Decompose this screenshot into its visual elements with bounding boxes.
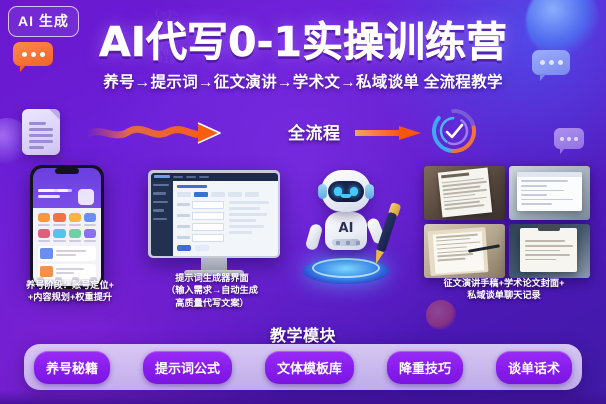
dashboard-content	[173, 181, 278, 256]
phone-icon-grid	[38, 213, 96, 242]
modules-panel: 养号秘籍 提示词公式 文体模板库 降重技巧 谈单话术	[24, 344, 582, 390]
window-titlebar	[517, 172, 582, 177]
module-pill-4[interactable]: 降重技巧	[387, 351, 463, 384]
caption-line: 提示词生成器界面	[142, 272, 282, 284]
form-field	[177, 212, 224, 220]
caption-photos: 征文演讲手稿+学术论文封面+ 私域谈单聊天记录	[404, 277, 604, 302]
page-title: AI代写0-1实操训练营	[0, 22, 606, 63]
pen-barrel	[376, 212, 397, 253]
paper-sheet	[432, 231, 484, 273]
module-pill-1[interactable]: 养号秘籍	[34, 351, 110, 384]
caption-monitor: 提示词生成器界面 （输入需求→自动生成 高质量代写文案）	[142, 272, 282, 309]
clipboard-clamp	[538, 224, 560, 231]
phone-hero-robot-icon	[78, 189, 94, 205]
robot-mouth	[340, 194, 352, 198]
flow-band: 全流程	[0, 101, 606, 163]
photo-grid	[424, 166, 590, 278]
caption-line: （输入需求→自动生成	[142, 284, 282, 296]
module-pill-2[interactable]: 提示词公式	[143, 351, 232, 384]
module-pill-5[interactable]: 谈单话术	[496, 351, 572, 384]
ai-robot-with-pen-icon: AI	[300, 168, 392, 284]
robot-arm-left	[305, 223, 324, 251]
clipboard	[520, 228, 577, 271]
form-field	[177, 234, 224, 242]
robot-ear-left	[318, 184, 327, 199]
handwritten-draft-photo	[424, 224, 505, 278]
document-in-hand-photo	[424, 166, 505, 220]
caption-line: 私域谈单聊天记录	[404, 289, 604, 301]
form-field	[177, 223, 224, 231]
progress-ring-check-icon	[428, 105, 480, 157]
monitor-screen	[151, 173, 278, 256]
arrow-right-icon	[355, 126, 421, 140]
monitor-bezel	[148, 170, 280, 258]
desktop-monitor-mockup	[148, 170, 280, 280]
clipboard	[427, 227, 488, 276]
smartphone-mockup	[30, 165, 104, 289]
monitor-neck	[201, 258, 227, 270]
pen-nib	[372, 250, 384, 266]
breadcrumb	[177, 185, 207, 188]
dashboard-topbar	[151, 173, 278, 181]
phone-app-header	[38, 179, 96, 187]
paper-sheet	[438, 168, 493, 218]
form-buttons	[177, 245, 224, 251]
robot-face-visor	[328, 181, 364, 202]
clipboard-laptop-photo	[509, 224, 590, 278]
robot-chest-label: AI	[325, 221, 367, 236]
module-pill-3[interactable]: 文体模板库	[265, 351, 354, 384]
wavy-arrow-icon	[86, 121, 236, 143]
page-subtitle: 养号→提示词→征文演讲→学术文→私域谈单 全流程教学	[0, 70, 606, 92]
list-item	[38, 246, 96, 261]
result-table	[229, 201, 274, 251]
robot-head	[321, 170, 371, 212]
robot-belt	[332, 239, 360, 246]
poster-root: {ai} 0-1 #>_ 01101 </> 0x1f { } 1010 //-…	[0, 0, 606, 404]
caption-line: 养号阶段：账号定位+	[2, 279, 138, 291]
dashboard-logo	[154, 175, 170, 178]
phone-hero-banner	[38, 189, 96, 206]
form-field	[177, 201, 224, 209]
app-window	[517, 172, 582, 211]
document-icon	[22, 109, 60, 155]
caption-phone: 养号阶段：账号定位+ +内容规划+权重提升	[2, 279, 138, 304]
phone-notch	[55, 168, 79, 174]
phone-screen	[33, 168, 101, 286]
caption-line: 征文演讲手稿+学术论文封面+	[404, 277, 604, 289]
footer-gradient	[0, 390, 606, 404]
robot-platform-ring	[312, 258, 380, 278]
modules-title: 教学模块	[0, 322, 606, 346]
dashboard-sidebar	[151, 181, 173, 256]
robot-ear-right	[365, 184, 374, 199]
dashboard-tabs	[177, 192, 274, 197]
flow-stage-label: 全流程	[288, 119, 341, 144]
software-window-photo	[509, 166, 590, 220]
robot-body: AI	[325, 212, 367, 250]
caption-line: 高质量代写文案）	[142, 297, 282, 309]
caption-line: +内容规划+权重提升	[2, 291, 138, 303]
